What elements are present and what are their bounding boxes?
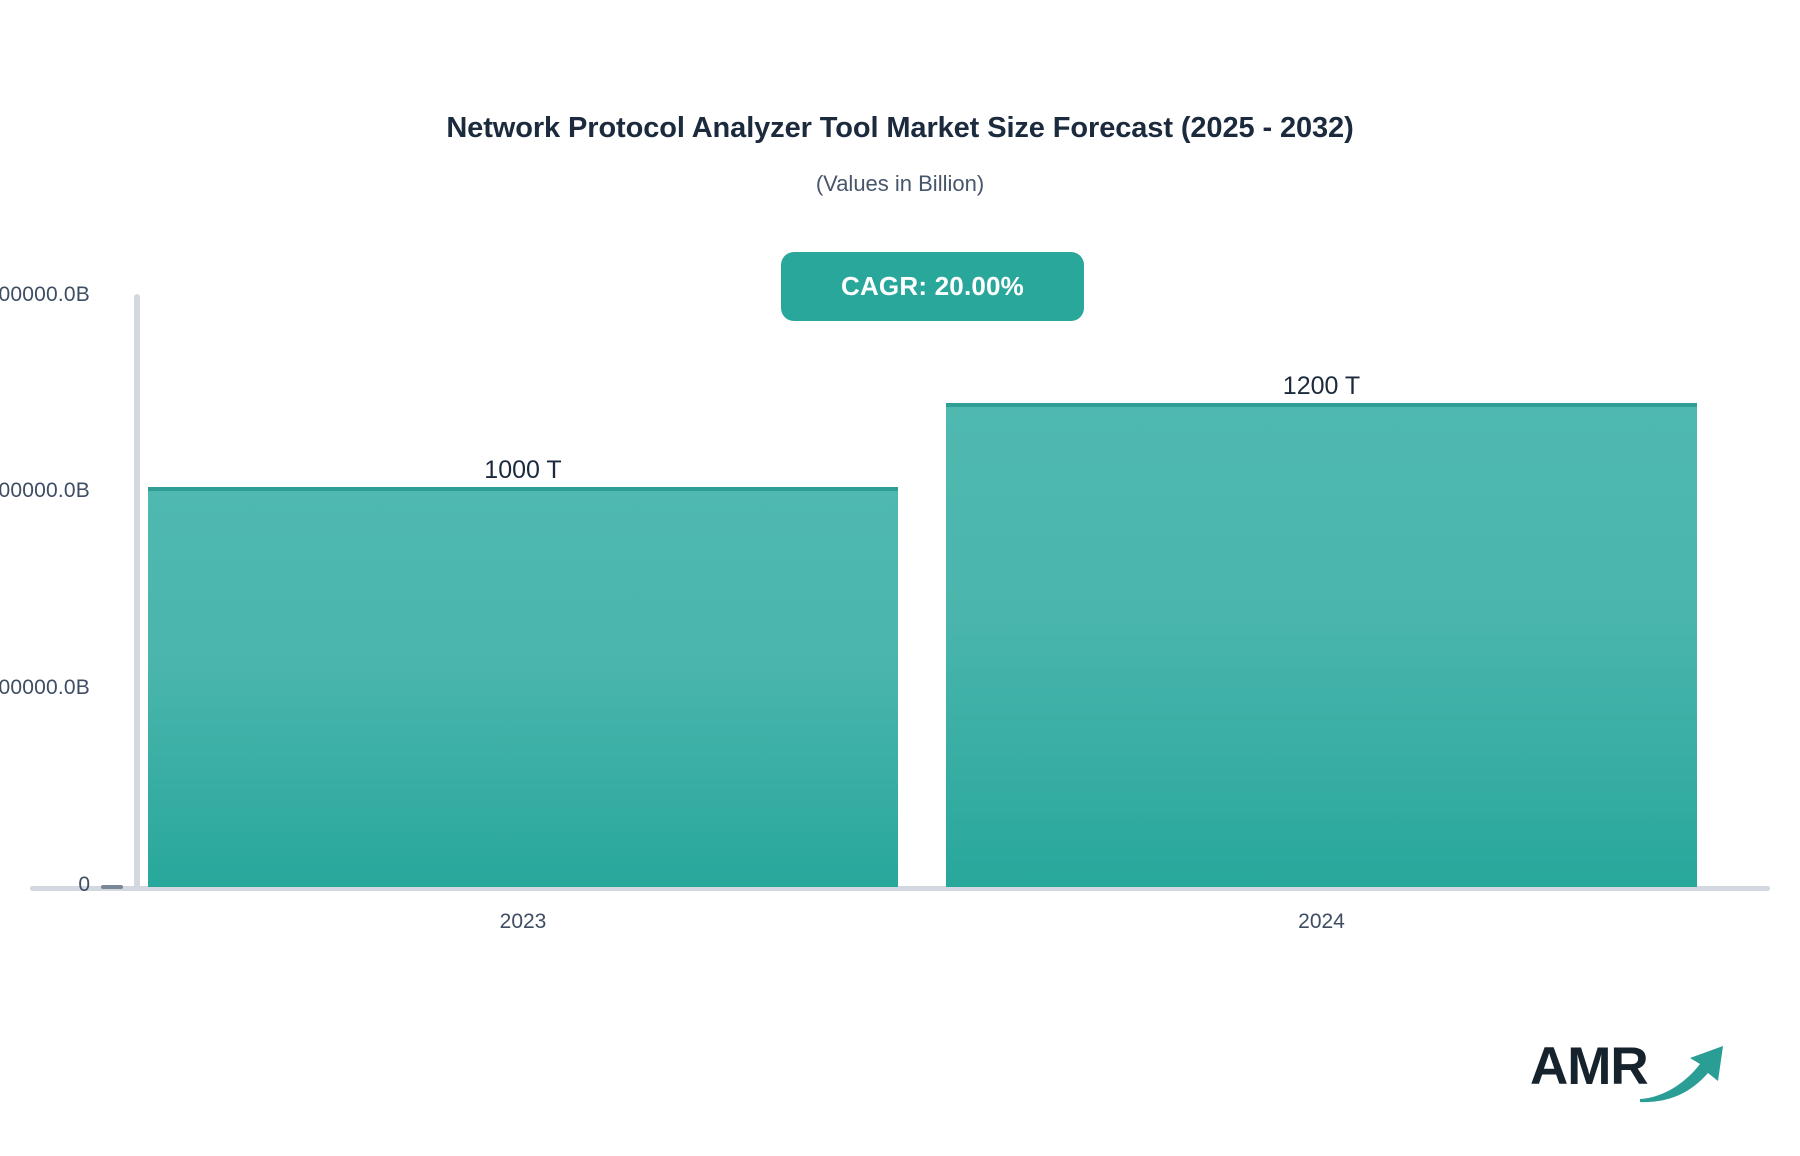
amr-logo: AMR <box>1530 1028 1730 1108</box>
y-axis-tick-mark-zero <box>101 885 123 889</box>
y-axis-tick-label-2: 00000.0B <box>0 479 90 503</box>
bar-value-label-2023: 1000 T <box>148 456 898 485</box>
x-axis-tick-label-2023: 2023 <box>148 910 898 934</box>
plot-area: 00000.0B 00000.0B 00000.0B 0 1000 T 2023… <box>0 0 1800 1156</box>
y-axis-tick-label-zero: 0 <box>0 873 90 897</box>
y-axis-line <box>134 294 140 889</box>
amr-logo-text: AMR <box>1530 1036 1648 1097</box>
y-axis-tick-label-3: 00000.0B <box>0 283 90 307</box>
growth-arrow-icon <box>1638 1042 1730 1104</box>
bar-2024[interactable] <box>946 403 1697 887</box>
chart-canvas: Network Protocol Analyzer Tool Market Si… <box>0 0 1800 1156</box>
x-axis-tick-label-2024: 2024 <box>946 910 1697 934</box>
y-axis-tick-label-1: 00000.0B <box>0 676 90 700</box>
bar-value-label-2024: 1200 T <box>946 372 1697 401</box>
bar-2023[interactable] <box>148 487 898 887</box>
